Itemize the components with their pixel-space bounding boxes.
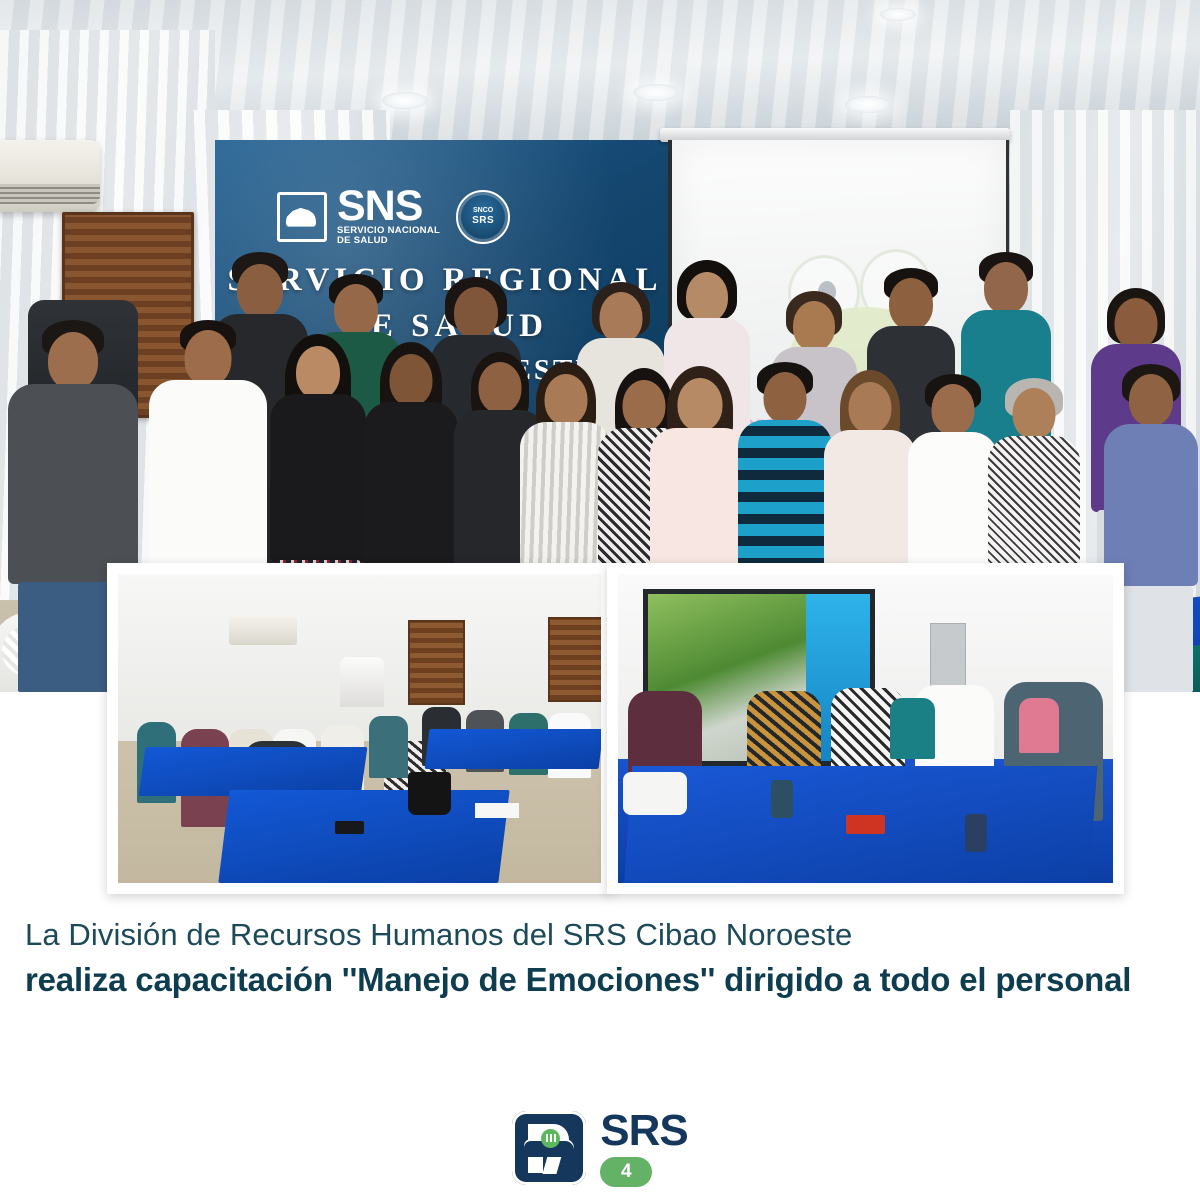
smartphone-icon — [965, 814, 987, 852]
stacked-white-chairs — [340, 657, 383, 706]
electrical-panel — [930, 623, 967, 687]
air-conditioner-icon — [229, 617, 297, 645]
smartphone-icon — [771, 780, 793, 818]
smartphone-icon — [335, 821, 364, 833]
footer-logo-block: SRS 4 — [0, 1095, 1200, 1200]
srs-brand-text: SRS — [600, 1109, 687, 1153]
wooden-blinds — [548, 617, 601, 701]
inset-photo-left — [107, 563, 612, 894]
headline-line-1: La División de Recursos Humanos del SRS … — [25, 916, 1185, 954]
inset-photo-right — [607, 563, 1124, 894]
background-person-figure — [890, 698, 935, 760]
inset-right-image — [618, 574, 1113, 883]
audience-figure — [369, 716, 408, 778]
srs-r-logo-icon — [512, 1111, 586, 1185]
blue-table — [219, 790, 511, 883]
white-cloth — [623, 772, 687, 815]
wooden-blinds — [408, 620, 465, 704]
red-stand-item — [846, 815, 886, 834]
background-person-figure — [1019, 698, 1059, 754]
headline-block: La División de Recursos Humanos del SRS … — [25, 916, 1185, 1000]
green-chart-badge-icon — [541, 1129, 560, 1148]
region-number-badge: 4 — [600, 1157, 652, 1187]
inset-left-image — [118, 574, 601, 883]
blue-table — [425, 729, 601, 769]
document-paper — [475, 803, 518, 818]
srs-wordmark: SRS 4 — [600, 1109, 687, 1187]
handbag — [408, 772, 451, 815]
social-media-card: SNS SERVICIO NACIONAL DE SALUD SNCO SRS … — [0, 0, 1200, 1200]
headline-line-2: realiza capacitación ''Manejo de Emocion… — [25, 960, 1185, 1000]
